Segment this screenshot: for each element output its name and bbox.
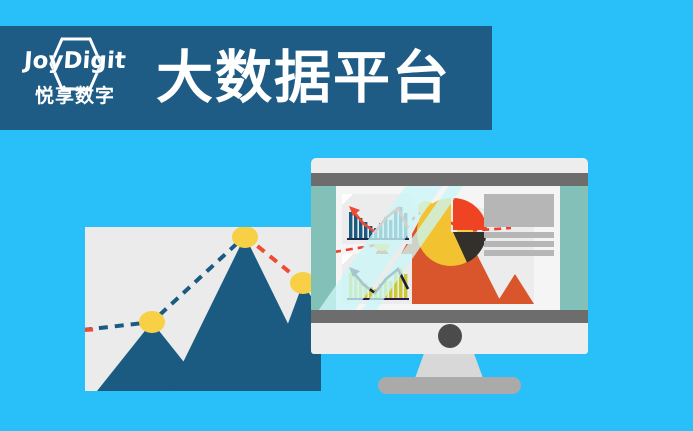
infographic-canvas: JoyDigit 悦享数字 大数据平台 [0,0,693,431]
data-node-1 [139,311,165,333]
bar-chart-card-yellow [342,254,412,304]
logo-subtitle: 悦享数字 [35,87,115,106]
brand-logo: JoyDigit 悦享数字 [16,32,134,124]
placeholder-line-2 [484,241,554,247]
bar-chart-blue-svg [342,194,412,244]
page-title: 大数据平台 [156,50,451,107]
placeholder-line-1 [484,232,554,238]
bar-chart-yellow-axis [347,298,409,300]
header-banner: JoyDigit 悦享数字 大数据平台 [0,26,492,130]
text-placeholder-block [484,194,554,256]
pie-slice-red [453,198,487,230]
placeholder-line-3 [484,250,554,256]
monitor-bottom-bar [311,310,588,323]
screen-band-right [560,186,588,310]
monitor-stand-base [378,377,521,394]
dashboard-area [336,186,560,310]
bar-chart-card-blue [342,194,412,244]
monitor-screen [311,186,588,310]
trend-line-red-tail [85,330,93,331]
pie-chart [412,192,490,272]
monitor-top-bar [311,173,588,186]
monitor-power-indicator [438,324,462,348]
bar-chart-yellow-svg [342,254,412,304]
placeholder-image [484,194,554,227]
screen-band-left [311,186,336,310]
logo-wordmark: JoyDigit [23,50,126,73]
mountain-chart-svg [85,227,321,391]
bar-chart-blue-axis [347,238,409,240]
mountain-chart-card [85,227,321,391]
desktop-monitor [311,158,588,385]
data-node-2 [232,227,258,248]
